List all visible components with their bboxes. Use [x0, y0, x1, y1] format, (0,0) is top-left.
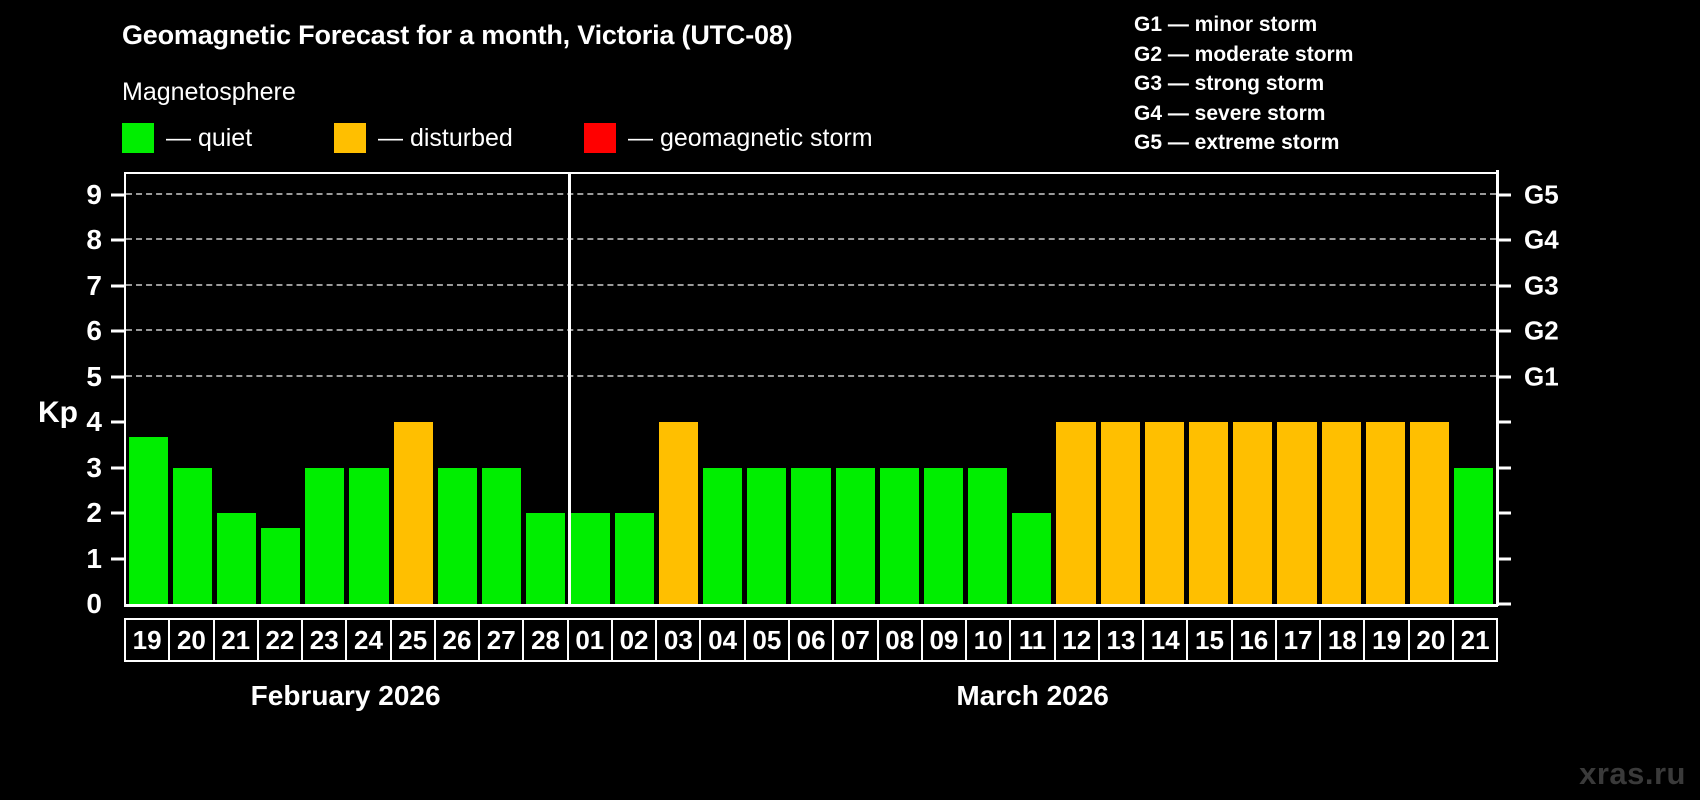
bar-cell[interactable]: [524, 174, 568, 604]
day-label-27[interactable]: 27: [480, 620, 524, 660]
day-label-04[interactable]: 04: [701, 620, 745, 660]
y-tick-mark-2: [111, 512, 124, 515]
g-tick-mark-G3: [1498, 284, 1511, 287]
day-label-16[interactable]: 16: [1233, 620, 1277, 660]
bar[interactable]: [747, 468, 786, 604]
bar-cell[interactable]: [347, 174, 391, 604]
day-label-06[interactable]: 06: [790, 620, 834, 660]
bar-cell[interactable]: [656, 174, 700, 604]
bar-cell[interactable]: [1142, 174, 1186, 604]
y-tick-mark-6: [111, 330, 124, 333]
y-tick-mark-5: [111, 375, 124, 378]
legend-label-storm: — geomagnetic storm: [628, 124, 873, 153]
day-label-23[interactable]: 23: [303, 620, 347, 660]
legend-swatch-quiet-icon: [122, 123, 154, 153]
bar-cell[interactable]: [480, 174, 524, 604]
bar[interactable]: [791, 468, 830, 604]
legend-item-storm: — geomagnetic storm: [584, 122, 873, 154]
g-tick-mark-G4: [1498, 239, 1511, 242]
bar[interactable]: [703, 468, 742, 604]
legend-item-disturbed: — disturbed: [334, 122, 513, 154]
bar-cell[interactable]: [1452, 174, 1496, 604]
bar[interactable]: [305, 468, 344, 604]
day-label-14[interactable]: 14: [1144, 620, 1188, 660]
bar-cell[interactable]: [391, 174, 435, 604]
g-tick-label-G3: G3: [1524, 270, 1559, 301]
bar-cell[interactable]: [1275, 174, 1319, 604]
bar[interactable]: [570, 513, 609, 604]
bar[interactable]: [526, 513, 565, 604]
bar[interactable]: [1012, 513, 1051, 604]
day-label-13[interactable]: 13: [1100, 620, 1144, 660]
bar-cell[interactable]: [877, 174, 921, 604]
g-minor-tick-4: [1498, 421, 1511, 424]
g-scale-row-1: G1 — minor storm: [1134, 10, 1353, 40]
bar-cell[interactable]: [1187, 174, 1231, 604]
day-label-20[interactable]: 20: [1410, 620, 1454, 660]
bar[interactable]: [1056, 422, 1095, 604]
bar[interactable]: [1189, 422, 1228, 604]
bar[interactable]: [1277, 422, 1316, 604]
g-tick-mark-G2: [1498, 330, 1511, 333]
bar[interactable]: [1101, 422, 1140, 604]
g-minor-tick-3: [1498, 466, 1511, 469]
day-label-12[interactable]: 12: [1056, 620, 1100, 660]
y-tick-label-1: 1: [86, 543, 102, 575]
g-tick-label-G5: G5: [1524, 179, 1559, 210]
day-label-28[interactable]: 28: [524, 620, 568, 660]
y-axis-title: Kp: [38, 396, 78, 430]
bar-cell[interactable]: [126, 174, 170, 604]
y-tick-label-9: 9: [86, 179, 102, 211]
bar-cell[interactable]: [259, 174, 303, 604]
bar-cell[interactable]: [1054, 174, 1098, 604]
y-tick-mark-4: [111, 421, 124, 424]
bar-cell[interactable]: [170, 174, 214, 604]
bar-cell[interactable]: [1231, 174, 1275, 604]
day-label-25[interactable]: 25: [392, 620, 436, 660]
y-tick-label-0: 0: [86, 588, 102, 620]
bar-cell[interactable]: [1319, 174, 1363, 604]
day-label-09[interactable]: 09: [923, 620, 967, 660]
day-label-19[interactable]: 19: [126, 620, 170, 660]
bar[interactable]: [261, 528, 300, 604]
day-label-05[interactable]: 05: [746, 620, 790, 660]
g-minor-tick-0: [1498, 603, 1511, 606]
y-tick-mark-7: [111, 284, 124, 287]
month-divider: [568, 172, 571, 606]
y-tick-label-2: 2: [86, 497, 102, 529]
legend-label-disturbed: — disturbed: [378, 124, 513, 153]
legend-heading: Magnetosphere: [122, 78, 296, 107]
y-tick-label-6: 6: [86, 315, 102, 347]
bar[interactable]: [1454, 468, 1493, 604]
bar[interactable]: [1145, 422, 1184, 604]
y-tick-label-3: 3: [86, 452, 102, 484]
bar-cell[interactable]: [1010, 174, 1054, 604]
day-label-21[interactable]: 21: [215, 620, 259, 660]
bar[interactable]: [836, 468, 875, 604]
day-label-26[interactable]: 26: [436, 620, 480, 660]
bar-cell[interactable]: [833, 174, 877, 604]
day-label-11[interactable]: 11: [1011, 620, 1055, 660]
bar[interactable]: [349, 468, 388, 604]
day-label-strip: 1920212223242526272801020304050607080910…: [124, 618, 1498, 662]
bar[interactable]: [1233, 422, 1272, 604]
bar-cell[interactable]: [966, 174, 1010, 604]
g-scale-row-3: G3 — strong storm: [1134, 69, 1353, 99]
g-minor-tick-1: [1498, 557, 1511, 560]
legend-swatch-disturbed-icon: [334, 123, 366, 153]
y-tick-mark-8: [111, 239, 124, 242]
bar[interactable]: [173, 468, 212, 604]
month-caption-2: March 2026: [833, 680, 1233, 712]
watermark: xras.ru: [1579, 756, 1686, 792]
g-tick-mark-G1: [1498, 375, 1511, 378]
y-axis-right: G1G2G3G4G5: [1498, 172, 1618, 604]
day-label-07[interactable]: 07: [834, 620, 878, 660]
day-label-02[interactable]: 02: [613, 620, 657, 660]
y-tick-mark-9: [111, 193, 124, 196]
geomagnetic-forecast-chart: Geomagnetic Forecast for a month, Victor…: [0, 0, 1700, 800]
bar[interactable]: [1410, 422, 1449, 604]
day-label-01[interactable]: 01: [569, 620, 613, 660]
day-label-17[interactable]: 17: [1277, 620, 1321, 660]
day-label-19[interactable]: 19: [1365, 620, 1409, 660]
y-tick-label-7: 7: [86, 270, 102, 302]
day-label-21[interactable]: 21: [1454, 620, 1496, 660]
g-tick-mark-G5: [1498, 193, 1511, 196]
bar[interactable]: [438, 468, 477, 604]
bar-cell[interactable]: [435, 174, 479, 604]
bar-cell[interactable]: [303, 174, 347, 604]
bar-cell[interactable]: [921, 174, 965, 604]
bar-cell[interactable]: [214, 174, 258, 604]
bar[interactable]: [659, 422, 698, 604]
day-label-20[interactable]: 20: [170, 620, 214, 660]
bar-cell[interactable]: [1363, 174, 1407, 604]
g-scale-row-4: G4 — severe storm: [1134, 99, 1353, 129]
legend-label-quiet: — quiet: [166, 124, 252, 153]
y-tick-label-8: 8: [86, 224, 102, 256]
y-tick-mark-1: [111, 557, 124, 560]
y-tick-label-4: 4: [86, 406, 102, 438]
bar-cell[interactable]: [745, 174, 789, 604]
g-scale-row-2: G2 — moderate storm: [1134, 40, 1353, 70]
bar[interactable]: [880, 468, 919, 604]
g-minor-tick-2: [1498, 512, 1511, 515]
legend-item-quiet: — quiet: [122, 122, 252, 154]
legend-swatch-storm-icon: [584, 123, 616, 153]
g-tick-label-G2: G2: [1524, 316, 1559, 347]
y-tick-label-5: 5: [86, 361, 102, 393]
bar[interactable]: [1322, 422, 1361, 604]
bar-cell[interactable]: [1407, 174, 1451, 604]
day-label-15[interactable]: 15: [1188, 620, 1232, 660]
bar[interactable]: [129, 437, 168, 604]
bar-cell[interactable]: [700, 174, 744, 604]
bar-cell[interactable]: [1098, 174, 1142, 604]
day-label-08[interactable]: 08: [879, 620, 923, 660]
month-caption-1: February 2026: [146, 680, 546, 712]
bar[interactable]: [968, 468, 1007, 604]
g-tick-label-G1: G1: [1524, 361, 1559, 392]
bar[interactable]: [924, 468, 963, 604]
page-title: Geomagnetic Forecast for a month, Victor…: [122, 20, 792, 51]
day-label-18[interactable]: 18: [1321, 620, 1365, 660]
day-label-10[interactable]: 10: [967, 620, 1011, 660]
x-axis-baseline: [124, 604, 1498, 607]
g-scale-legend: G1 — minor stormG2 — moderate stormG3 — …: [1134, 10, 1353, 158]
bar[interactable]: [482, 468, 521, 604]
y-axis-left: 0123456789: [74, 172, 124, 604]
bar-cell[interactable]: [568, 174, 612, 604]
bar-series: [126, 174, 1496, 604]
bar-cell[interactable]: [789, 174, 833, 604]
bar[interactable]: [217, 513, 256, 604]
bar[interactable]: [1366, 422, 1405, 604]
day-label-22[interactable]: 22: [259, 620, 303, 660]
g-tick-label-G4: G4: [1524, 225, 1559, 256]
plot-area: [124, 172, 1498, 604]
g-scale-row-5: G5 — extreme storm: [1134, 128, 1353, 158]
bar-cell[interactable]: [612, 174, 656, 604]
y-tick-mark-3: [111, 466, 124, 469]
bar[interactable]: [394, 422, 433, 604]
day-label-24[interactable]: 24: [347, 620, 391, 660]
day-label-03[interactable]: 03: [657, 620, 701, 660]
bar[interactable]: [615, 513, 654, 604]
